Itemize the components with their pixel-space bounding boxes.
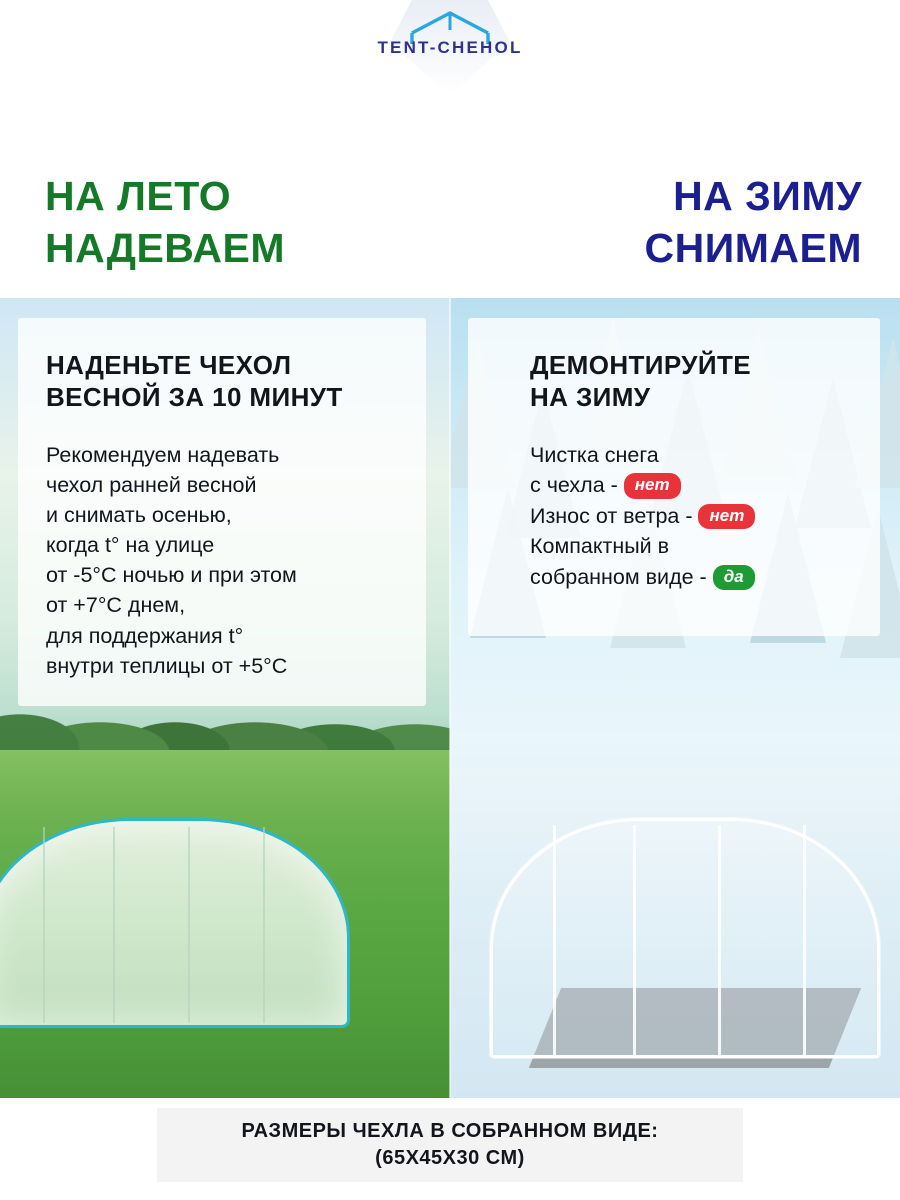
title-left-line2: НАДЕВАЕМ [45, 222, 465, 274]
left-card-body-line: и снимать осенью, [46, 500, 396, 530]
title-left-line1: НА ЛЕТО [45, 170, 465, 222]
right-card-row-text: с чехла - [530, 473, 618, 497]
right-card-row: Компактный в собранном виде - да [530, 531, 852, 592]
right-card-row: Износ от ветра - нет [530, 501, 852, 532]
greenhouse-frame-graphic [490, 818, 880, 1058]
left-card-body-line: от +7°С днем, [46, 590, 396, 620]
left-card-heading: НАДЕНЬТЕ ЧЕХОЛ ВЕСНОЙ ЗА 10 МИНУТ [46, 350, 396, 414]
right-card-row-line1: Компактный в [530, 531, 852, 562]
left-card-body-line: от -5°С ночью и при этом [46, 560, 396, 590]
left-card-body-line: чехол ранней весной [46, 470, 396, 500]
tunnel-rib [113, 827, 115, 1023]
footer-size-band: РАЗМЕРЫ ЧЕХЛА В СОБРАННОМ ВИДЕ: (65Х45Х3… [157, 1108, 743, 1182]
left-info-card: НАДЕНЬТЕ ЧЕХОЛ ВЕСНОЙ ЗА 10 МИНУТ Рекоме… [18, 318, 426, 706]
left-card-heading-line1: НАДЕНЬТЕ ЧЕХОЛ [46, 350, 396, 382]
title-band: НА ЛЕТО НАДЕВАЕМ НА ЗИМУ СНИМАЕМ [0, 150, 900, 298]
status-badge-yes: да [713, 565, 755, 590]
frame-bar [553, 825, 556, 1057]
frame-bar [803, 825, 806, 1057]
right-card-heading: ДЕМОНТИРУЙТЕ НА ЗИМУ [530, 350, 852, 414]
left-card-body-line: внутри теплицы от +5°С [46, 651, 396, 681]
tunnel-rib [43, 827, 45, 1023]
right-card-row-text: собранном виде - [530, 565, 707, 589]
right-card-heading-line2: НА ЗИМУ [530, 382, 852, 414]
right-card-row: Чистка снега с чехла - нет [530, 440, 852, 501]
tunnel-rib [188, 827, 190, 1023]
tunnel-rib [263, 827, 265, 1023]
left-card-heading-line2: ВЕСНОЙ ЗА 10 МИНУТ [46, 382, 396, 414]
title-left: НА ЛЕТО НАДЕВАЕМ [45, 170, 465, 275]
left-card-body-line: для поддержания t° [46, 621, 396, 651]
right-card-row-line2: собранном виде - да [530, 562, 852, 593]
right-card-row-line1: Чистка снега [530, 440, 852, 471]
title-right: НА ЗИМУ СНИМАЕМ [442, 170, 862, 275]
footer-line1: РАЗМЕРЫ ЧЕХЛА В СОБРАННОМ ВИДЕ: [242, 1120, 659, 1143]
right-card-row-text: Износ от ветра - [530, 504, 693, 528]
right-info-card: ДЕМОНТИРУЙТЕ НА ЗИМУ Чистка снега с чехл… [468, 318, 880, 636]
frame-bar [718, 825, 721, 1057]
right-card-body: Чистка снега с чехла - нет Износ от ветр… [530, 440, 852, 593]
status-badge-no: нет [698, 504, 755, 529]
tunnel-cover-shape [0, 818, 350, 1028]
greenhouse-with-cover-graphic [0, 818, 380, 1048]
left-card-body-line: Рекомендуем надевать [46, 440, 396, 470]
vertical-divider [449, 298, 451, 1098]
left-card-body-line: когда t° на улице [46, 530, 396, 560]
left-card-body: Рекомендуем надевать чехол ранней весной… [46, 440, 396, 681]
frame-bar [633, 825, 636, 1057]
right-card-row-line2: Износ от ветра - нет [530, 501, 852, 532]
logo-text: TENT-CHEHOL [350, 38, 550, 58]
title-right-line1: НА ЗИМУ [442, 170, 862, 222]
status-badge-no: нет [624, 473, 681, 498]
title-right-line2: СНИМАЕМ [442, 222, 862, 274]
header-bar: TENT-CHEHOL [0, 0, 900, 150]
logo: TENT-CHEHOL [350, 0, 550, 100]
right-card-heading-line1: ДЕМОНТИРУЙТЕ [530, 350, 852, 382]
right-card-row-line2: с чехла - нет [530, 470, 852, 501]
footer-line2: (65Х45Х30 СМ) [375, 1147, 525, 1170]
